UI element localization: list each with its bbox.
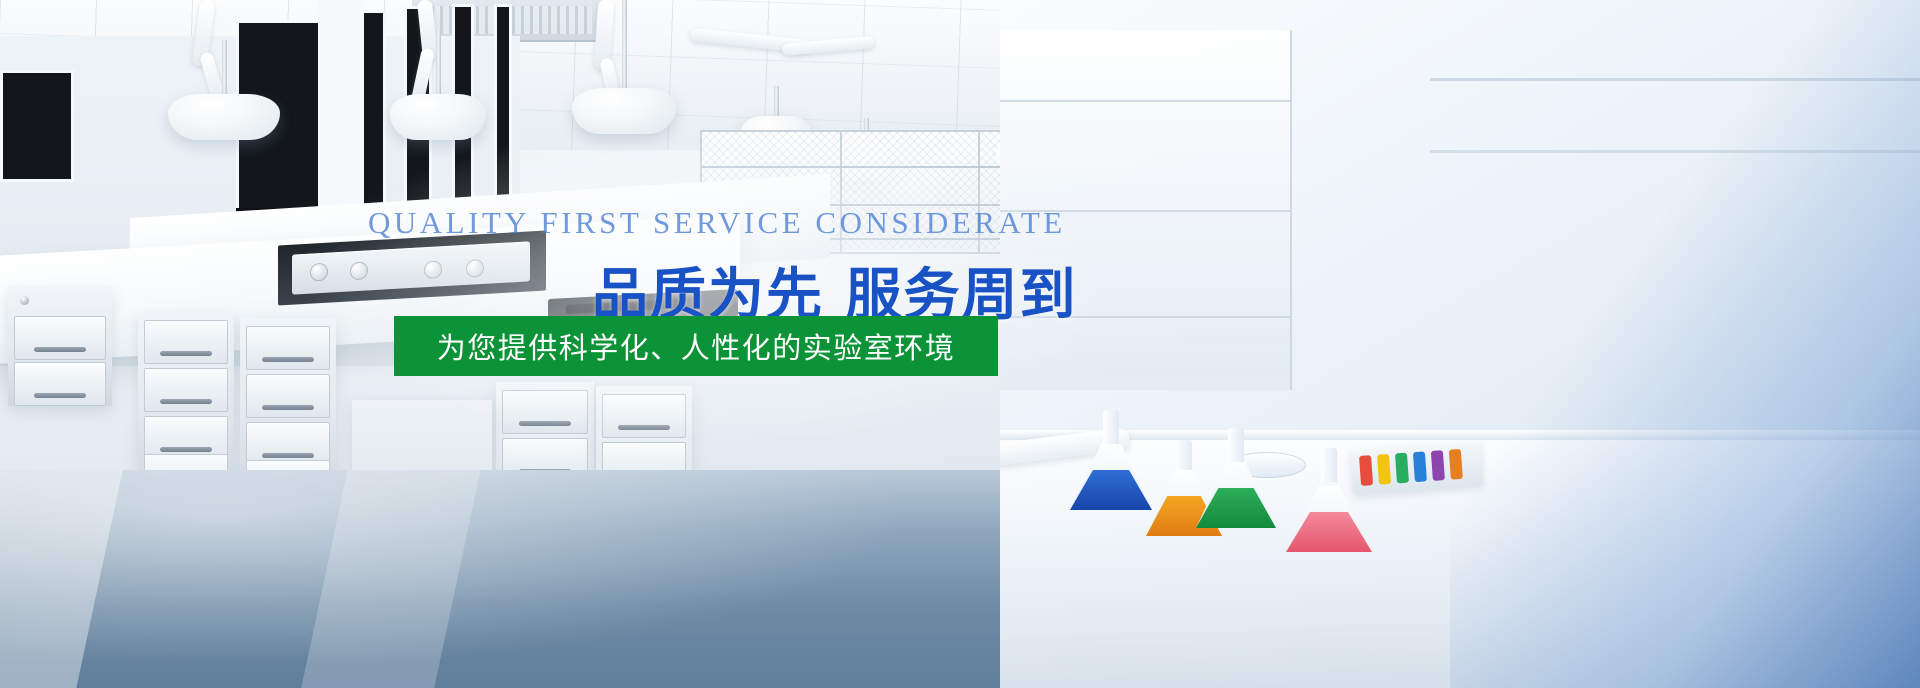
banner-subtitle-text: 为您提供科学化、人性化的实验室环境 xyxy=(394,316,998,376)
banner-eyebrow-text: QUALITY FIRST SERVICE CONSIDERATE xyxy=(368,205,1066,241)
promo-banner: QUALITY FIRST SERVICE CONSIDERATE 品质为先 服… xyxy=(0,0,1920,688)
banner-text-layer: QUALITY FIRST SERVICE CONSIDERATE 品质为先 服… xyxy=(0,0,1920,688)
banner-subtitle-band: 为您提供科学化、人性化的实验室环境 xyxy=(394,316,998,376)
